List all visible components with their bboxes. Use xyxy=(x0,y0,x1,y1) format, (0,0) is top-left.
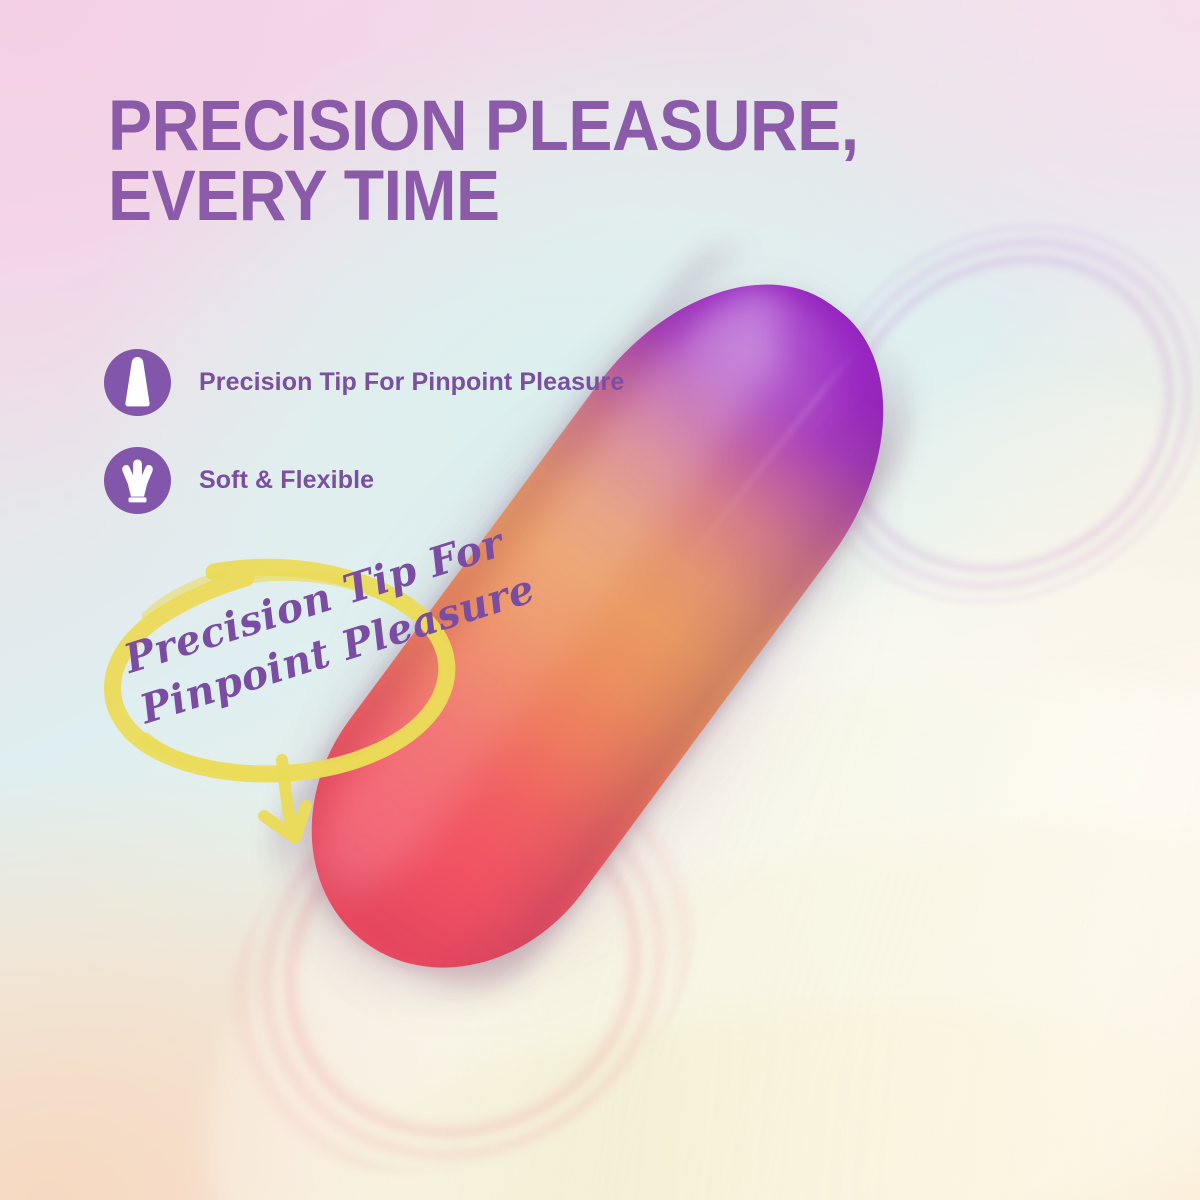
feature-item-precision-tip: Precision Tip For Pinpoint Pleasure xyxy=(104,333,964,431)
page-title: PRECISION PLEASURE, EVERY TIME xyxy=(108,92,1001,233)
soft-flexible-icon xyxy=(104,447,171,514)
product-feature-banner: PRECISION PLEASURE, EVERY TIME Precision… xyxy=(0,0,1200,1200)
background-wave-lower xyxy=(229,964,1200,1200)
feature-label: Soft & Flexible xyxy=(199,466,374,495)
precision-tip-icon xyxy=(104,349,171,416)
hand-drawn-ellipse-highlight xyxy=(113,567,448,775)
feature-item-soft-flexible: Soft & Flexible xyxy=(104,431,964,529)
background-wave-glow xyxy=(537,449,1200,1200)
feature-label: Precision Tip For Pinpoint Pleasure xyxy=(199,368,624,397)
feature-list: Precision Tip For Pinpoint Pleasure Soft… xyxy=(104,333,964,529)
callout-annotation: Precision Tip For Pinpoint Pleasure xyxy=(96,548,496,868)
